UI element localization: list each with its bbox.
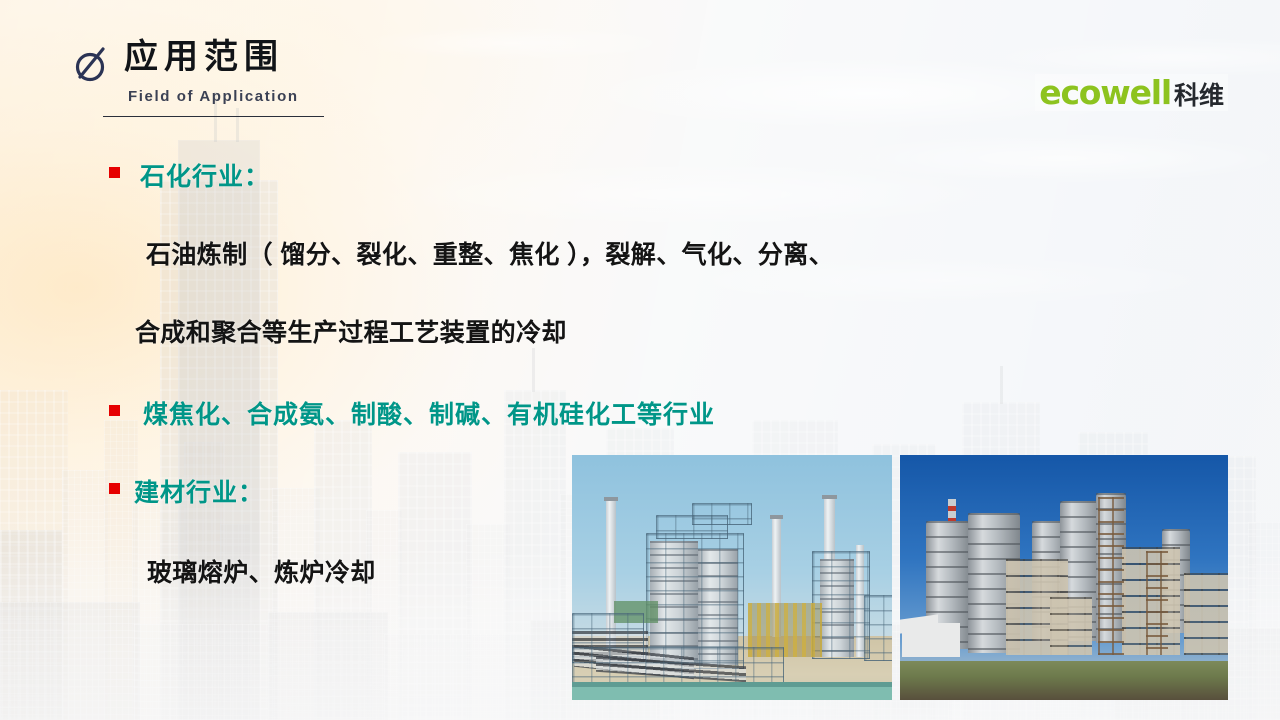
bullet-marker [109,405,120,416]
page-subtitle: Field of Application [128,88,299,105]
content-heading-building-materials: 建材行业： [134,473,264,509]
industrial-plant-photo [900,455,1228,700]
content-body-refining: 石油炼制（ 馏分、裂化、重整、焦化 ），裂解、气化、分离、 [146,235,834,271]
bullet-marker [109,483,120,494]
logo-wordmark: ecowell [1039,76,1171,109]
page-title: 应用范围 [124,37,284,78]
content-body-furnace: 玻璃熔炉、炼炉冷却 [147,553,376,589]
diameter-symbol-icon [70,42,114,86]
bullet-marker [109,167,120,178]
content-heading-petrochemical: 石化行业： [140,157,270,193]
company-logo: ecowell 科维 [1035,74,1228,111]
content-heading-coking: 煤焦化、合成氨、制酸、制碱、有机硅化工等行业 [143,395,715,431]
logo-chinese-name: 科维 [1174,84,1224,109]
petrochemical-refinery-photo [572,455,892,700]
content-body-synthesis: 合成和聚合等生产过程工艺装置的冷却 [135,313,567,349]
title-underline [103,116,324,117]
slide-canvas: 应用范围 Field of Application ecowell 科维 石化行… [0,0,1280,720]
